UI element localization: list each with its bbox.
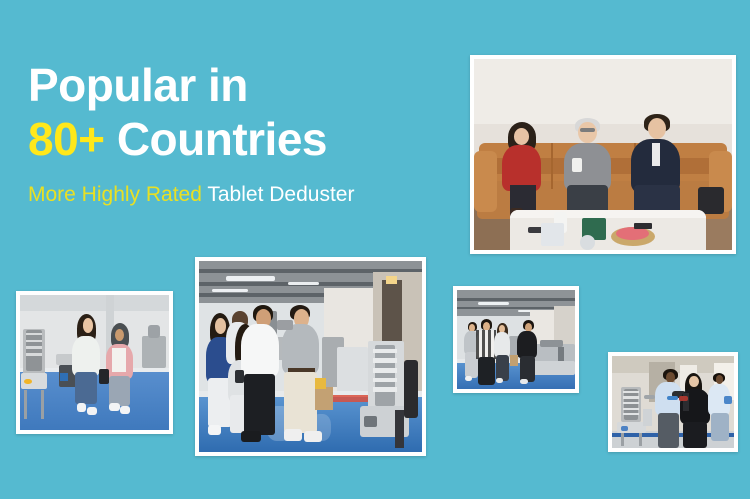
headline-block: Popular in 80+ Countries More Highly Rat… bbox=[28, 58, 354, 208]
two-women-factory-photo bbox=[16, 291, 173, 434]
headline-line-2: 80+ Countries bbox=[28, 112, 354, 166]
meeting-room-scene bbox=[474, 59, 732, 250]
group-demonstration-photo bbox=[453, 286, 579, 393]
product-inspection-photo bbox=[608, 352, 738, 452]
headline-line-1: Popular in bbox=[28, 58, 354, 112]
meeting-room-photo bbox=[470, 55, 736, 254]
two-women-scene bbox=[20, 295, 169, 430]
promo-banner: Popular in 80+ Countries More Highly Rat… bbox=[0, 0, 750, 499]
factory-tour-photo bbox=[195, 257, 426, 456]
subheadline-highlight: More Highly Rated bbox=[28, 183, 202, 206]
subheadline-rest: Tablet Deduster bbox=[207, 183, 354, 206]
subheadline: More Highly Rated Tablet Deduster bbox=[28, 182, 354, 208]
product-inspection-scene bbox=[612, 356, 734, 448]
country-count: 80+ bbox=[28, 113, 105, 165]
group-demonstration-scene bbox=[457, 290, 575, 389]
headline-line-2-rest: Countries bbox=[117, 113, 327, 165]
factory-tour-scene bbox=[199, 261, 422, 452]
